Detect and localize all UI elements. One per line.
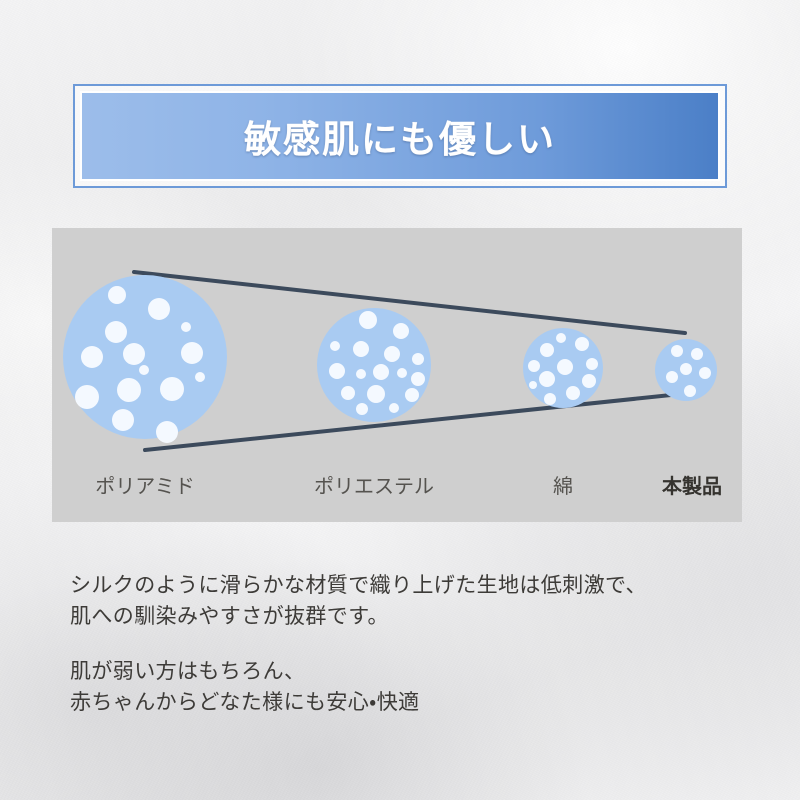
fiber-bubble-1 <box>63 275 227 439</box>
chart-axis-labels: ポリアミドポリエステル綿本製品 <box>52 470 742 500</box>
fiber-dot <box>393 323 409 339</box>
fiber-dot <box>699 367 711 379</box>
fiber-dot <box>691 348 703 360</box>
fiber-dot <box>540 343 554 357</box>
comparison-chart-panel: ポリアミドポリエステル綿本製品 <box>52 228 742 522</box>
fiber-dot <box>397 368 407 378</box>
fiber-dot <box>341 386 355 400</box>
fiber-dot <box>330 341 340 351</box>
fiber-dot <box>539 371 555 387</box>
body-paragraph-1: シルクのように滑らかな材質で織り上げた生地は低刺激で、 肌への馴染みやすさが抜群… <box>70 570 750 632</box>
fiber-dot <box>671 345 683 357</box>
fiber-dot <box>148 298 170 320</box>
page-title: 敏感肌にも優しい <box>244 109 556 163</box>
fiber-dot <box>81 346 103 368</box>
fiber-dot <box>557 359 573 375</box>
fiber-dot <box>544 393 556 405</box>
fiber-dot <box>389 403 399 413</box>
chart-category-label-3: 綿 <box>553 470 573 499</box>
fiber-dot <box>105 321 127 343</box>
body-paragraph-2-line-2: 赤ちゃんからどなた様にも安心・快適 <box>70 687 750 718</box>
fiber-bubble-3 <box>523 328 603 408</box>
fiber-dot <box>680 363 692 375</box>
fiber-dot <box>684 385 696 397</box>
header-banner: 敏感肌にも優しい <box>73 84 727 188</box>
fiber-dot <box>586 358 598 370</box>
fiber-dot <box>367 385 385 403</box>
fiber-dot <box>117 378 141 402</box>
fiber-dot <box>411 372 425 386</box>
body-paragraph-2-line-1: 肌が弱い方はもちろん、 <box>70 656 750 687</box>
fiber-dot <box>528 360 540 372</box>
fiber-dot <box>160 377 184 401</box>
fiber-bubble-2 <box>317 308 431 422</box>
chart-category-label-2: ポリエステル <box>314 470 434 499</box>
fiber-dot <box>353 341 369 357</box>
fiber-dot <box>575 337 589 351</box>
fiber-dot <box>356 403 368 415</box>
header-banner-inner: 敏感肌にも優しい <box>80 91 720 181</box>
fiber-dot <box>373 364 389 380</box>
fiber-dot <box>582 374 596 388</box>
body-paragraph-1-line-2: 肌への馴染みやすさが抜群です。 <box>70 601 750 632</box>
fiber-dot <box>566 386 580 400</box>
fiber-dot <box>405 388 419 402</box>
funnel-line-bottom <box>145 392 700 450</box>
fiber-dot <box>156 421 178 443</box>
fiber-dot <box>556 333 566 343</box>
fiber-dot <box>108 286 126 304</box>
fiber-dot <box>356 369 366 379</box>
fiber-bubble-4 <box>655 339 717 401</box>
fiber-dot <box>195 372 205 382</box>
fiber-dot <box>112 409 134 431</box>
body-paragraph-1-line-1: シルクのように滑らかな材質で織り上げた生地は低刺激で、 <box>70 570 750 601</box>
fiber-dot <box>123 343 145 365</box>
fiber-dot <box>412 353 424 365</box>
body-paragraph-2: 肌が弱い方はもちろん、 赤ちゃんからどなた様にも安心・快適 <box>70 656 750 718</box>
fiber-dot <box>329 363 345 379</box>
chart-category-label-4: 本製品 <box>662 470 722 499</box>
fiber-dot <box>181 322 191 332</box>
fiber-dot <box>139 365 149 375</box>
fiber-dot <box>529 381 537 389</box>
fiber-dot <box>666 371 678 383</box>
chart-category-label-1: ポリアミド <box>95 470 195 499</box>
fiber-dot <box>181 342 203 364</box>
fiber-dot <box>359 311 377 329</box>
fiber-dot <box>384 346 400 362</box>
fiber-dot <box>75 385 99 409</box>
